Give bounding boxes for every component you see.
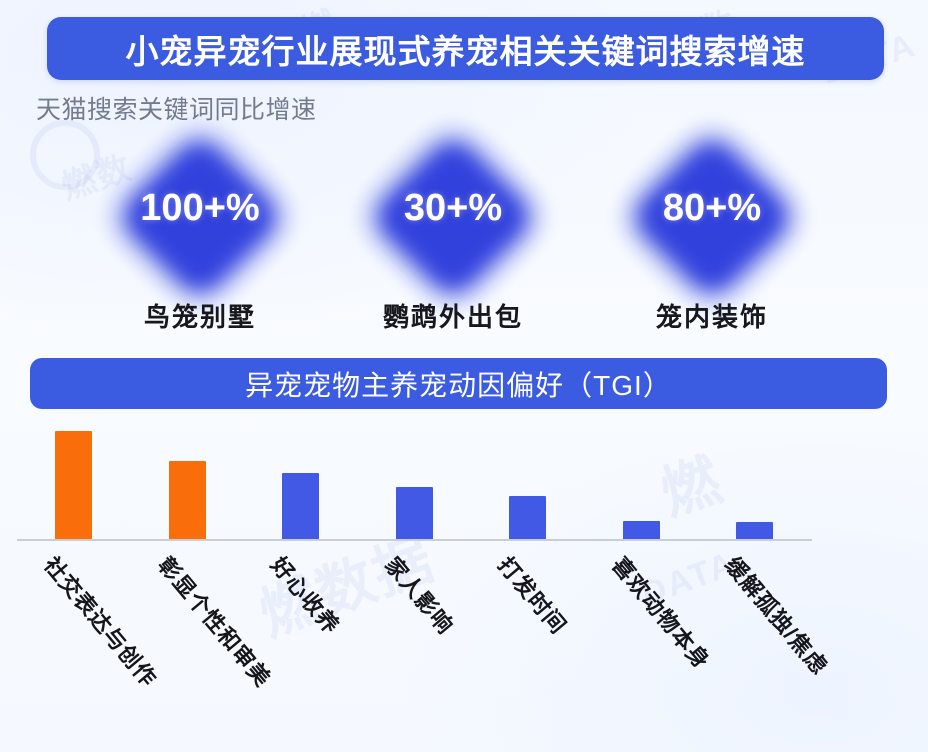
kpi-value: 100+% bbox=[110, 187, 290, 230]
kpi-badge: 100+% bbox=[110, 135, 290, 315]
chart-bar bbox=[623, 521, 660, 540]
chart-bar bbox=[55, 431, 92, 540]
chart-bar bbox=[509, 496, 546, 540]
chart-bar bbox=[282, 473, 319, 540]
bar-chart: 社交表达与创作彰显个性和审美好心收养家人影响打发时间喜欢动物本身缓解孤独/焦虑 bbox=[0, 415, 928, 752]
chart-baseline-axis bbox=[17, 539, 812, 541]
chart-tick-label: 社交表达与创作 bbox=[37, 549, 165, 693]
kpi-badge-label: 鹦鹉外出包 bbox=[353, 297, 553, 334]
kpi-badge: 80+% bbox=[622, 135, 802, 315]
chart-tick-label: 彰显个性和审美 bbox=[151, 549, 279, 693]
kpi-value: 80+% bbox=[622, 187, 802, 230]
header-banner: 小宠异宠行业展现式养宠相关关键词搜索增速 bbox=[47, 17, 884, 80]
section-title: 异宠宠物主养宠动因偏好（TGI） bbox=[245, 364, 672, 404]
section-banner-tgi: 异宠宠物主养宠动因偏好（TGI） bbox=[30, 358, 887, 409]
chart-bar bbox=[736, 522, 773, 540]
chart-tick-label: 打发时间 bbox=[491, 549, 575, 640]
chart-tick-label: 家人影响 bbox=[378, 549, 462, 640]
kpi-value: 30+% bbox=[363, 187, 543, 230]
chart-bar bbox=[396, 487, 433, 540]
chart-bar bbox=[169, 461, 206, 540]
kpi-badge: 30+% bbox=[363, 135, 543, 315]
page-title: 小宠异宠行业展现式养宠相关关键词搜索增速 bbox=[126, 25, 806, 73]
chart-tick-label: 好心收养 bbox=[264, 549, 348, 640]
chart-plot-area bbox=[0, 415, 928, 540]
infographic-page: 燃数 燃数据 DATA 燃 DATA 燃 数 小宠异宠行业展现式养宠相关关键词搜… bbox=[0, 0, 928, 752]
chart-tick-label: 缓解孤独/焦虑 bbox=[718, 549, 836, 681]
kpi-badge-label: 笼内装饰 bbox=[612, 297, 812, 334]
chart-tick-label: 喜欢动物本身 bbox=[605, 549, 718, 675]
kpi-badge-label: 鸟笼别墅 bbox=[100, 297, 300, 334]
subtitle-label: 天猫搜索关键词同比增速 bbox=[36, 90, 317, 126]
